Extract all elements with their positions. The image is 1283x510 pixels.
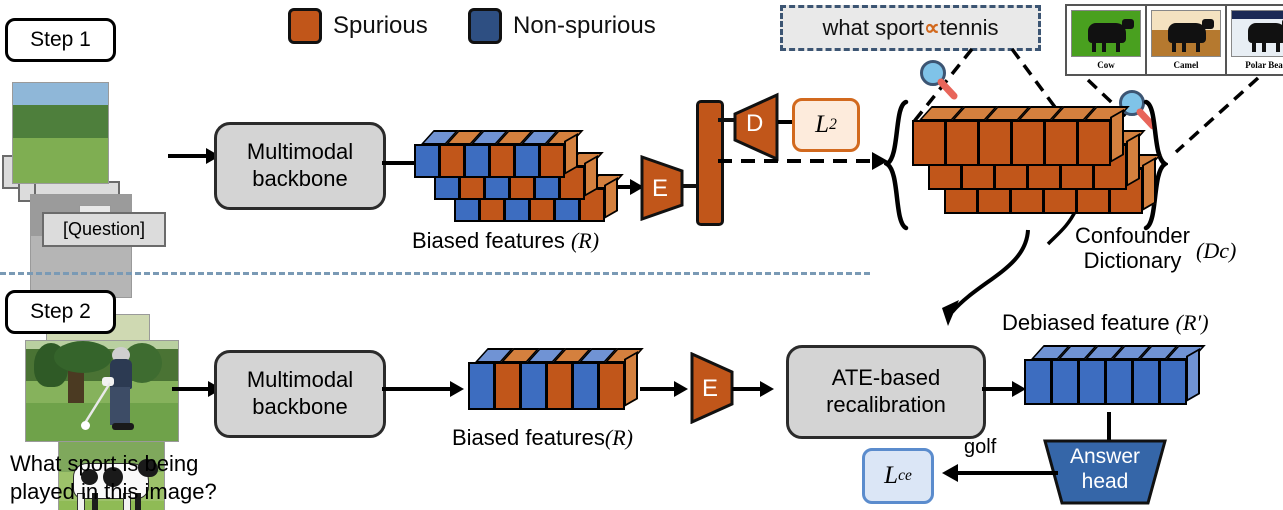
biased-features-caption-text-step1: Biased features bbox=[412, 228, 571, 253]
confounder-caption-line2: Dictionary bbox=[1070, 249, 1195, 274]
question-placeholder-label: [Question] bbox=[63, 219, 145, 240]
feature-block bbox=[464, 144, 490, 178]
arrow-backbone-to-features-step2 bbox=[382, 378, 464, 400]
blue-square-swatch bbox=[468, 8, 502, 44]
feature-block bbox=[912, 120, 946, 166]
debiased-features-stack bbox=[1024, 345, 1202, 413]
feature-block bbox=[494, 362, 521, 410]
backbone-line2: backbone bbox=[252, 166, 347, 193]
step-1-pill: Step 1 bbox=[5, 18, 116, 62]
arrow-answer-to-loss-ce bbox=[936, 462, 1058, 484]
step2-question-line2: played in this image? bbox=[10, 478, 217, 506]
biased-features-caption-step2: Biased features(R) bbox=[452, 425, 633, 451]
encoder-label-step2: E bbox=[702, 375, 718, 403]
feature-block bbox=[1044, 120, 1078, 166]
debiased-features-caption-symbol: (R′) bbox=[1176, 310, 1209, 335]
loss-ce-subscript: ce bbox=[898, 467, 912, 485]
feature-block-side-face bbox=[1110, 109, 1124, 163]
feature-block bbox=[546, 362, 573, 410]
feature-block bbox=[439, 144, 465, 178]
magnifier-icon-left bbox=[916, 58, 962, 109]
feature-block bbox=[1105, 359, 1133, 405]
debiased-features-caption: Debiased feature (R′) bbox=[1002, 310, 1209, 336]
step-2-pill: Step 2 bbox=[5, 290, 116, 334]
feature-block-side-face bbox=[604, 177, 618, 219]
feature-block bbox=[978, 120, 1012, 166]
multimodal-backbone-step2: Multimodal backbone bbox=[214, 350, 386, 438]
encoder-step2: E bbox=[690, 352, 734, 424]
recalibration-line1: ATE-based bbox=[832, 365, 940, 392]
step2-question-text: What sport is being played in this image… bbox=[10, 450, 217, 505]
feature-block bbox=[572, 362, 599, 410]
photo-back-3 bbox=[12, 82, 109, 184]
answer-head-line2: head bbox=[1042, 469, 1168, 494]
backbone2-line2: backbone bbox=[252, 394, 347, 421]
biased-features-caption-symbol-step1: (R) bbox=[571, 228, 599, 253]
biased-features-caption-step1: Biased features (R) bbox=[412, 228, 599, 254]
loss-ce-symbol: L bbox=[884, 462, 898, 490]
step-1-label: Step 1 bbox=[30, 28, 91, 52]
feature-block bbox=[1011, 120, 1045, 166]
answer-head-label: Answer head bbox=[1042, 444, 1168, 494]
recalibration-line2: recalibration bbox=[826, 392, 946, 419]
proportional-symbol-icon: ∝ bbox=[924, 15, 940, 41]
loss-l2-box: L2 bbox=[792, 98, 860, 152]
prompt-suffix: tennis bbox=[940, 15, 999, 41]
feature-block-side-face bbox=[1186, 348, 1200, 402]
feature-block bbox=[1051, 359, 1079, 405]
golf-photo bbox=[25, 340, 179, 442]
prompt-prefix: what sport bbox=[823, 15, 925, 41]
feature-block bbox=[489, 144, 515, 178]
arrow-recalibration-to-debiased bbox=[982, 378, 1026, 400]
feature-block bbox=[1159, 359, 1187, 405]
biased-features-caption-text-step2: Biased features bbox=[452, 425, 605, 450]
confounder-caption-line1: Confounder bbox=[1070, 224, 1195, 249]
backbone2-line1: Multimodal bbox=[247, 367, 353, 394]
backbone-line1: Multimodal bbox=[247, 139, 353, 166]
feature-block bbox=[1024, 359, 1052, 405]
feature-block bbox=[598, 362, 625, 410]
biased-features-stack-step2 bbox=[468, 348, 638, 418]
step2-question-line1: What sport is being bbox=[10, 450, 217, 478]
confounder-dictionary-stack bbox=[912, 106, 1144, 228]
loss-l2-subscript: 2 bbox=[829, 116, 837, 134]
legend-label-spurious: Spurious bbox=[333, 12, 428, 40]
orange-square-swatch bbox=[288, 8, 322, 44]
answer-head-line1: Answer bbox=[1042, 444, 1168, 469]
step-2-label: Step 2 bbox=[30, 300, 91, 324]
biased-features-stack-step1 bbox=[414, 130, 604, 222]
loss-ce-box: Lce bbox=[862, 448, 934, 504]
multimodal-backbone-step1: Multimodal backbone bbox=[214, 122, 386, 210]
answer-head: Answer head bbox=[1042, 438, 1168, 506]
feature-block bbox=[514, 144, 540, 178]
biased-features-caption-symbol-step2: (R) bbox=[605, 425, 633, 450]
legend-item-spurious: Spurious bbox=[288, 8, 428, 44]
encoder-step1: E bbox=[640, 155, 684, 221]
feature-block bbox=[414, 144, 440, 178]
legend-label-non-spurious: Non-spurious bbox=[513, 12, 656, 40]
section-divider bbox=[0, 272, 870, 275]
arrow-input-to-backbone-step1 bbox=[168, 145, 220, 167]
feature-block bbox=[1078, 359, 1106, 405]
feature-block-side-face bbox=[1126, 133, 1140, 187]
confounder-dictionary-caption: Confounder Dictionary bbox=[1070, 224, 1195, 273]
feature-block-side-face bbox=[1142, 157, 1156, 211]
question-bar-front: [Question] bbox=[42, 212, 166, 247]
decoder-label-step1: D bbox=[746, 110, 763, 138]
arrow-encoder-to-recalibration bbox=[732, 378, 774, 400]
diagram-canvas: Spurious Non-spurious Step 1 bbox=[0, 0, 1283, 510]
confounder-left-brace bbox=[884, 98, 910, 233]
feature-block bbox=[1132, 359, 1160, 405]
legend-item-non-spurious: Non-spurious bbox=[468, 8, 656, 44]
encoder-label-step1: E bbox=[652, 175, 668, 203]
feature-block bbox=[539, 144, 565, 178]
feature-block bbox=[520, 362, 547, 410]
feature-block bbox=[945, 120, 979, 166]
feature-block-side-face bbox=[624, 351, 638, 407]
debiased-features-caption-text: Debiased feature bbox=[1002, 310, 1176, 335]
feature-block bbox=[1077, 120, 1111, 166]
confounder-dictionary-symbol: (Dc) bbox=[1196, 238, 1236, 264]
loss-l2-symbol: L bbox=[815, 111, 829, 139]
ate-recalibration-box: ATE-based recalibration bbox=[786, 345, 986, 439]
feature-block bbox=[468, 362, 495, 410]
arrow-features-to-encoder-step2 bbox=[640, 378, 688, 400]
answer-text-label: golf bbox=[964, 436, 996, 459]
